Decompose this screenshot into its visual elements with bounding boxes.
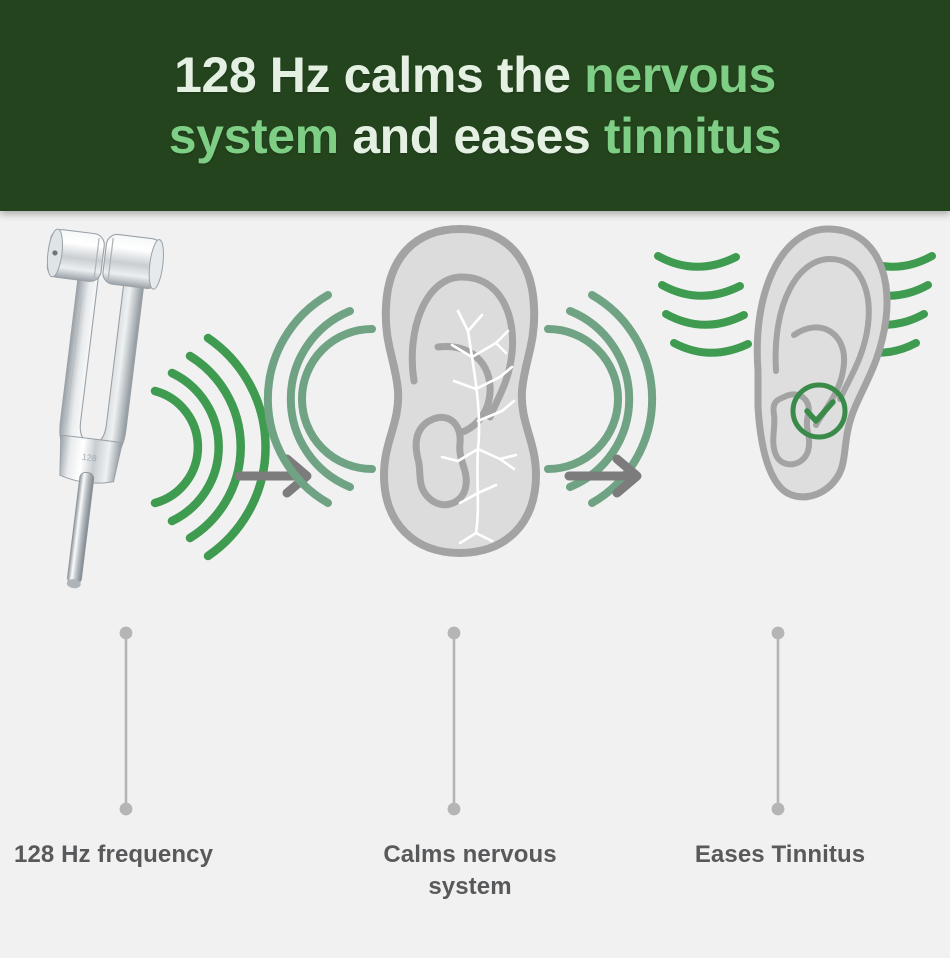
step-3-icon-zone: [640, 211, 950, 631]
step-2-label: Calms nervous system: [340, 839, 600, 904]
fork-weight-left: [45, 228, 105, 282]
connector-dot-top: [772, 627, 785, 640]
step-2-label-line2: system: [428, 873, 511, 900]
title-segment-plain-2: and eases: [339, 108, 604, 164]
title-segment-plain-1: 128 Hz calms the: [174, 47, 584, 103]
step-1-label: 128 Hz frequency: [14, 839, 274, 871]
title-segment-accent-2: system: [169, 108, 339, 164]
connector-dot-bottom: [448, 803, 461, 816]
sound-wave-lines-left-icon: [658, 256, 748, 353]
fork-stem: [67, 472, 95, 585]
connector-dot-top: [120, 627, 133, 640]
connector-dot-bottom: [120, 803, 133, 816]
sound-wave-arcs-icon: [155, 338, 266, 556]
fork-mark: 128: [81, 452, 97, 464]
step-2-label-line1: Calms nervous: [383, 841, 556, 868]
header-banner: 128 Hz calms the nervoussystem and eases…: [0, 0, 950, 211]
infographic-stage: 128: [0, 211, 950, 958]
page-title: 128 Hz calms the nervoussystem and eases…: [35, 45, 915, 167]
inner-ear-nerve-icon: [310, 211, 610, 631]
step-2-icon-zone: [310, 211, 610, 631]
connector-dot-top: [448, 627, 461, 640]
connector-line-1: [119, 626, 133, 816]
connector-line-2: [447, 626, 461, 816]
connector-dot-bottom: [772, 803, 785, 816]
ear-profile-icon: [640, 211, 950, 631]
title-segment-accent-1: nervous: [584, 47, 776, 103]
tuning-fork-icon: 128: [0, 211, 290, 631]
infographic-root: 128 Hz calms the nervoussystem and eases…: [0, 0, 950, 958]
connector-line-3: [771, 626, 785, 816]
title-segment-accent-3: tinnitus: [604, 108, 781, 164]
step-1-icon-zone: 128: [0, 211, 290, 631]
step-3-label: Eases Tinnitus: [650, 839, 910, 871]
fork-weight-right: [102, 233, 166, 290]
